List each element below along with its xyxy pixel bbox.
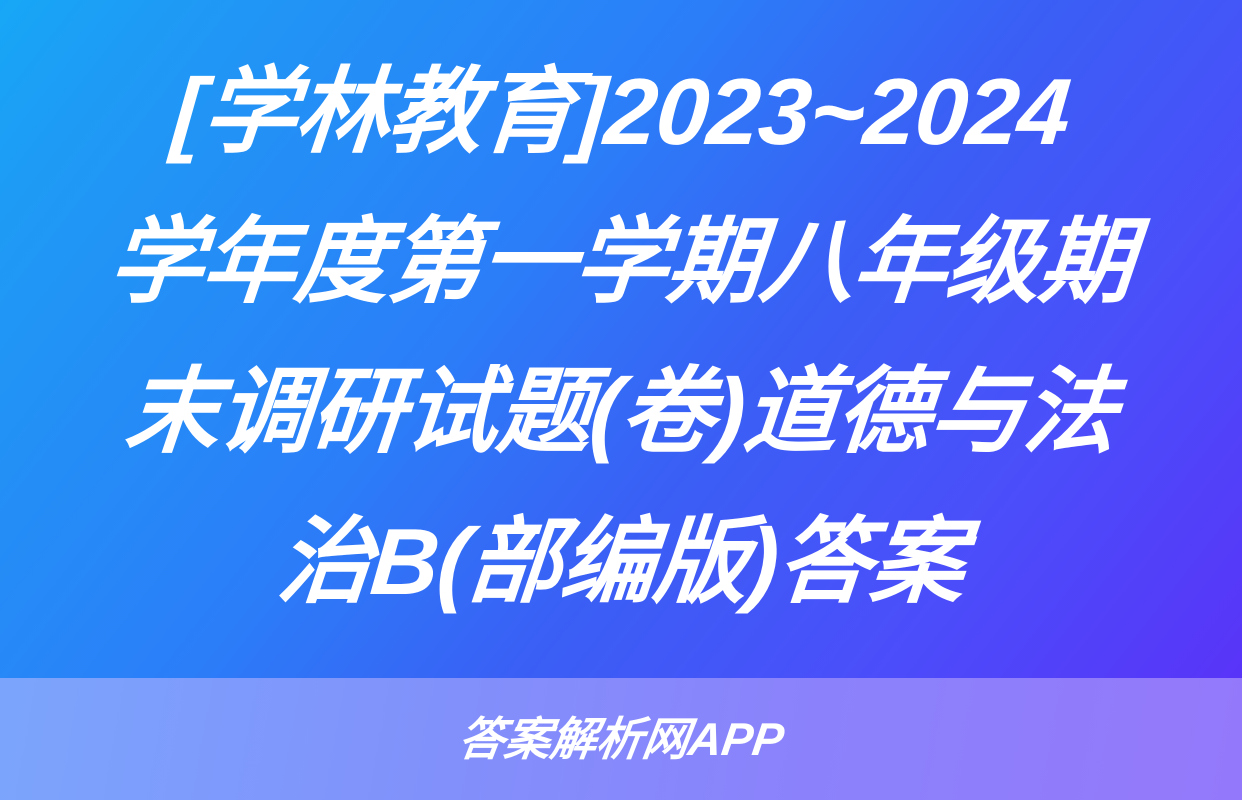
watermark-band: 答案解析网APP [0,678,1242,800]
watermark-app-label: 答案解析网APP [455,714,787,764]
title-line-1: [学林教育]2023~2024 [33,37,1208,187]
title-line-2: 学年度第一学期八年级期 [33,187,1208,337]
title-line-4: 治B(部编版)答案 [33,487,1208,637]
title-line-3: 末调研试题(卷)道德与法 [33,337,1208,487]
exam-title-card: [学林教育]2023~2024 学年度第一学期八年级期 末调研试题(卷)道德与法… [0,0,1242,800]
title-block: [学林教育]2023~2024 学年度第一学期八年级期 末调研试题(卷)道德与法… [0,0,1242,678]
